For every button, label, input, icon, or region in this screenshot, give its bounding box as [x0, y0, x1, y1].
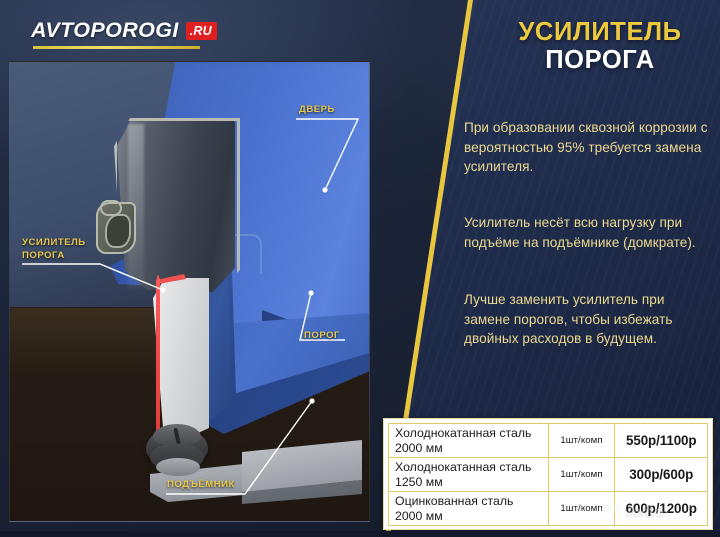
- lift-puck-base-shape: [156, 458, 200, 476]
- brand-logo-word: AVTOPOROGI: [31, 20, 179, 42]
- callout-label-door: ДВЕРЬ: [299, 103, 335, 116]
- table-row: Холоднокатанная сталь 1250 мм 1шт/комп 3…: [389, 458, 708, 492]
- price-row-1-price: 300р/600р: [615, 458, 708, 492]
- avito-watermark: Avito: [601, 500, 713, 526]
- sill-reinforcer-red-edge: [156, 274, 160, 442]
- page-title-line2: ПОРОГА: [489, 46, 711, 74]
- price-row-0-qty: 1шт/комп: [548, 424, 615, 458]
- callout-label-lift: ПОДЪЁМНИК: [167, 478, 235, 491]
- brand-logo-tld: .RU: [186, 22, 217, 41]
- bottom-strip: [0, 531, 720, 537]
- info-paragraph-1: При образовании сквозной коррозии с веро…: [464, 118, 712, 177]
- brand-logo: AVTOPOROGI .RU: [31, 20, 217, 42]
- price-row-1-name: Холоднокатанная сталь 1250 мм: [389, 458, 549, 492]
- callout-label-sill: ПОРОГ: [304, 329, 340, 342]
- price-row-1-qty: 1шт/комп: [548, 458, 615, 492]
- table-row: Холоднокатанная сталь 2000 мм 1шт/комп 5…: [389, 424, 708, 458]
- cutaway-diagram: [9, 61, 370, 522]
- brand-underline-bar: [33, 46, 200, 49]
- door-seal-core-shape: [105, 214, 131, 248]
- price-row-0-price: 550р/1100р: [615, 424, 708, 458]
- page-title: УСИЛИТЕЛЬ ПОРОГА: [489, 18, 711, 74]
- avito-logo-icon: [601, 503, 623, 523]
- price-row-2-name: Оцинкованная сталь 2000 мм: [389, 492, 549, 526]
- poster-canvas: ДВЕРЬ УСИЛИТЕЛЬ ПОРОГА ПОРОГ ПОДЪЁМНИК У…: [0, 0, 720, 537]
- info-paragraph-2: Усилитель несёт всю нагрузку при подъёме…: [464, 213, 712, 252]
- avito-watermark-text: Avito: [626, 504, 663, 522]
- info-paragraph-3: Лучше заменить усилитель при замене поро…: [464, 290, 712, 349]
- price-row-0-name: Холоднокатанная сталь 2000 мм: [389, 424, 549, 458]
- door-seal-clip-shape: [100, 200, 122, 216]
- callout-label-reinforcer: УСИЛИТЕЛЬ ПОРОГА: [22, 236, 86, 262]
- page-title-line1: УСИЛИТЕЛЬ: [489, 18, 711, 46]
